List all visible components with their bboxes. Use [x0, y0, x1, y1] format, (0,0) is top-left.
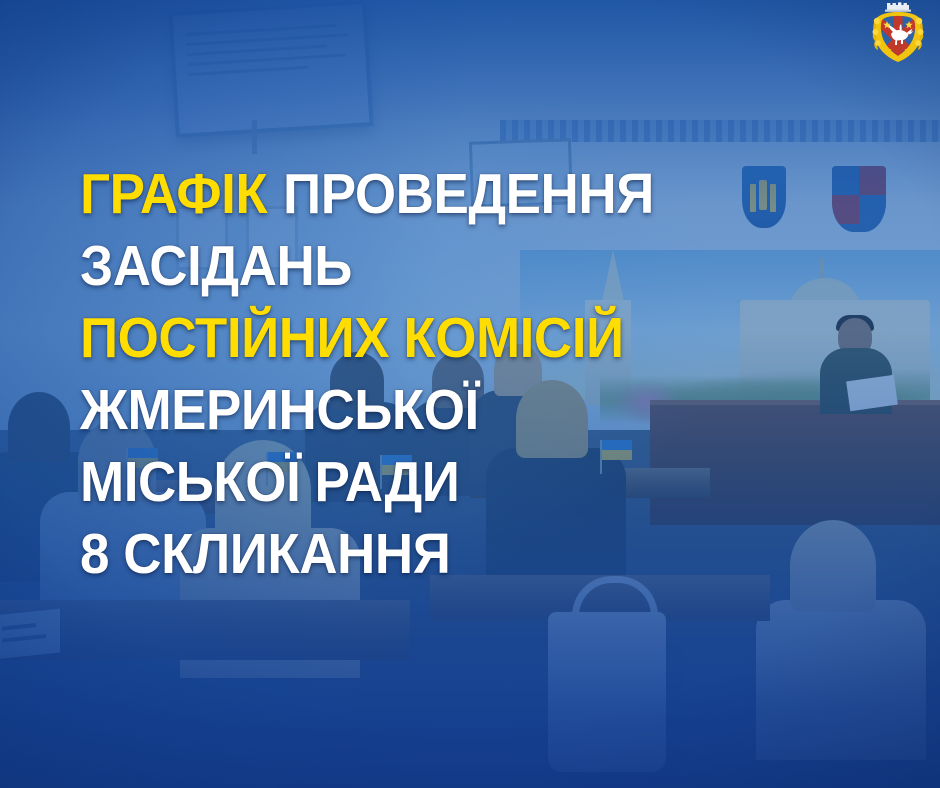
- headline-line-5: МІСЬКОЇ РАДИ: [80, 446, 843, 518]
- headline-segment: ЗАСІДАНЬ: [80, 234, 352, 298]
- headline-line-6: 8 СКЛИКАННЯ: [80, 518, 843, 590]
- headline-line-2: ЗАСІДАНЬ: [80, 230, 843, 302]
- headline-segment: ПОСТІЙНИХ КОМІСІЙ: [80, 306, 624, 370]
- headline-line-3: ПОСТІЙНИХ КОМІСІЙ: [80, 302, 843, 374]
- headline-segment: ГРАФІК: [80, 162, 267, 226]
- headline-segment: 8 СКЛИКАННЯ: [80, 522, 450, 586]
- headline: ГРАФІКПРОВЕДЕННЯЗАСІДАНЬПОСТІЙНИХ КОМІСІ…: [80, 158, 900, 590]
- headline-segment: ЖМЕРИНСЬКОЇ: [80, 378, 479, 442]
- headline-line-4: ЖМЕРИНСЬКОЇ: [80, 374, 843, 446]
- headline-line-1: ГРАФІКПРОВЕДЕННЯ: [80, 158, 843, 230]
- zhmerynka-coat-of-arms-icon: [866, 1, 930, 65]
- poster: ГРАФІКПРОВЕДЕННЯЗАСІДАНЬПОСТІЙНИХ КОМІСІ…: [0, 0, 940, 788]
- headline-segment: МІСЬКОЇ РАДИ: [80, 450, 459, 514]
- headline-segment: ПРОВЕДЕННЯ: [283, 162, 654, 226]
